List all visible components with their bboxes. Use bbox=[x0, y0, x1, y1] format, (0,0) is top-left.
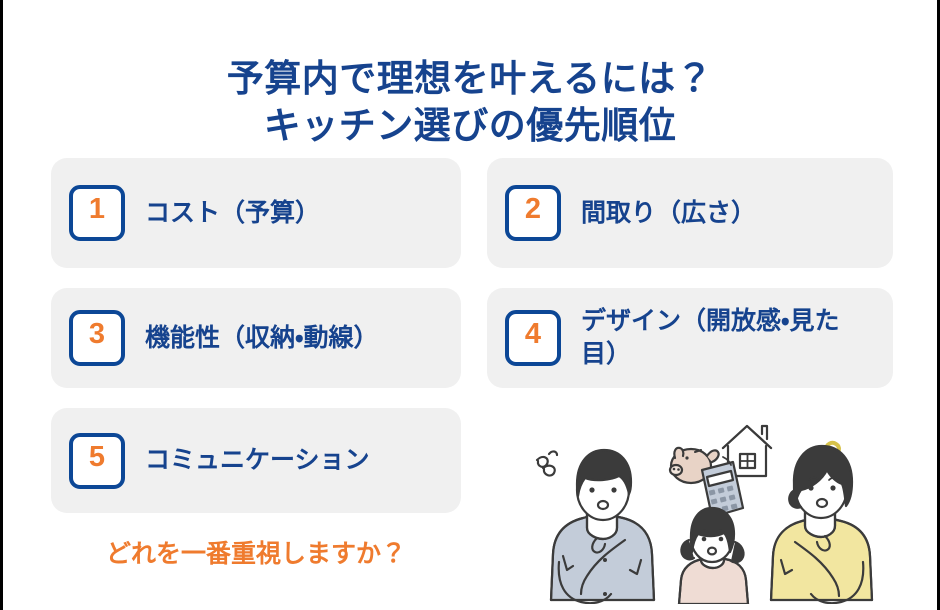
page-title: 予算内で理想を叶えるには？ キッチン選びの優先順位 bbox=[3, 55, 937, 150]
priority-number-badge-1: 1 bbox=[69, 185, 125, 241]
slide-canvas: 予算内で理想を叶えるには？ キッチン選びの優先順位 1 コスト（予算） 3 機能… bbox=[0, 0, 940, 610]
priority-number-badge-4: 4 bbox=[505, 310, 561, 366]
father-figure bbox=[551, 450, 654, 603]
priority-card-5[interactable]: 5 コミュニケーション bbox=[51, 408, 461, 513]
thought-squiggle-left bbox=[537, 451, 557, 475]
page-title-line-1: 予算内で理想を叶えるには？ bbox=[3, 55, 937, 102]
daughter-figure bbox=[679, 508, 748, 604]
priority-number-badge-3: 3 bbox=[69, 310, 125, 366]
mother-figure bbox=[771, 446, 872, 603]
priority-label-4: デザイン（開放感・見た目） bbox=[581, 305, 875, 371]
family-thinking-illustration bbox=[519, 404, 915, 604]
priority-card-3[interactable]: 3 機能性（収納・動線） bbox=[51, 288, 461, 388]
priority-label-5: コミュニケーション bbox=[145, 444, 370, 477]
priority-card-2[interactable]: 2 間取り（広さ） bbox=[487, 158, 893, 268]
priority-label-2: 間取り（広さ） bbox=[581, 197, 756, 230]
priority-column-left: 1 コスト（予算） 3 機能性（収納・動線） 5 コミュニケーション bbox=[51, 158, 461, 533]
footer-question: どれを一番重視しますか？ bbox=[51, 534, 461, 570]
priority-column-right: 2 間取り（広さ） 4 デザイン（開放感・見た目） bbox=[487, 158, 893, 408]
priority-number-badge-2: 2 bbox=[505, 185, 561, 241]
priority-label-3: 機能性（収納・動線） bbox=[145, 322, 379, 355]
page-title-line-2: キッチン選びの優先順位 bbox=[3, 102, 937, 149]
priority-card-4[interactable]: 4 デザイン（開放感・見た目） bbox=[487, 288, 893, 388]
priority-number-badge-5: 5 bbox=[69, 433, 125, 489]
priority-label-1: コスト（予算） bbox=[145, 197, 320, 230]
priority-card-1[interactable]: 1 コスト（予算） bbox=[51, 158, 461, 268]
